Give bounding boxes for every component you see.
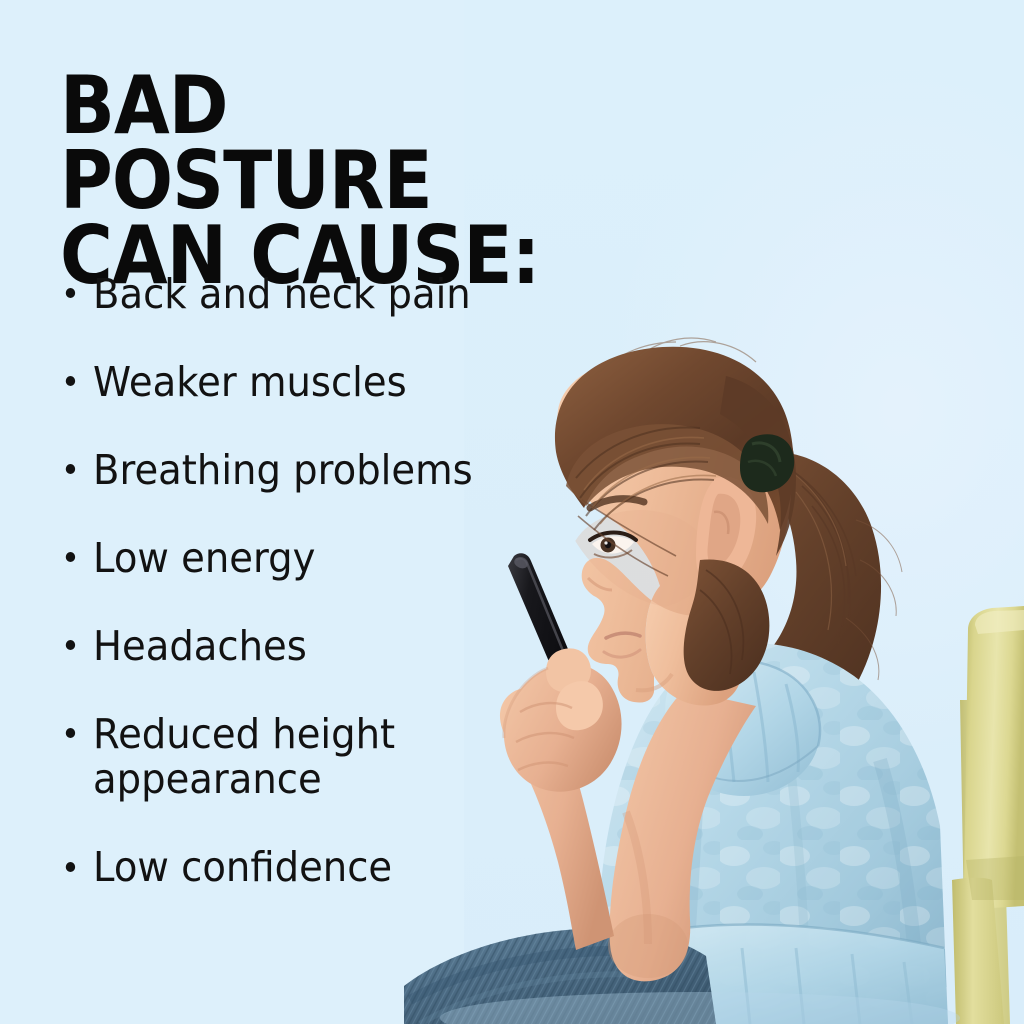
- bullet-dot-icon: [66, 464, 75, 474]
- bullet-dot-icon: [66, 728, 75, 738]
- list-item-label: Reduced height appearance: [93, 710, 395, 804]
- list-item-label: Weaker muscles: [93, 358, 407, 406]
- list-item-label: Breathing problems: [93, 446, 473, 494]
- bullet-dot-icon: [66, 862, 75, 872]
- bullet-dot-icon: [66, 288, 75, 298]
- page-title: BAD POSTURE CAN CAUSE:: [60, 68, 564, 294]
- bullet-dot-icon: [66, 552, 75, 562]
- list-item: Low energy: [62, 536, 532, 582]
- list-item: Weaker muscles: [62, 360, 532, 406]
- bullet-dot-icon: [66, 640, 75, 650]
- bullet-dot-icon: [66, 376, 75, 386]
- list-item-label: Low energy: [93, 534, 315, 582]
- list-item-label: Back and neck pain: [93, 270, 471, 318]
- list-item: Back and neck pain: [62, 272, 532, 318]
- list-item-label: Low confidence: [93, 843, 392, 891]
- list-item: Headaches: [62, 624, 532, 670]
- list-item-label: Headaches: [93, 622, 307, 670]
- chair-back: [952, 606, 1024, 1024]
- poster-canvas: BAD POSTURE CAN CAUSE: Back and neck pai…: [0, 0, 1024, 1024]
- list-item: Breathing problems: [62, 448, 532, 494]
- list-item: Reduced height appearance: [62, 712, 429, 804]
- list-item: Low confidence: [62, 845, 532, 891]
- symptom-list: Back and neck pain Weaker muscles Breath…: [62, 272, 562, 933]
